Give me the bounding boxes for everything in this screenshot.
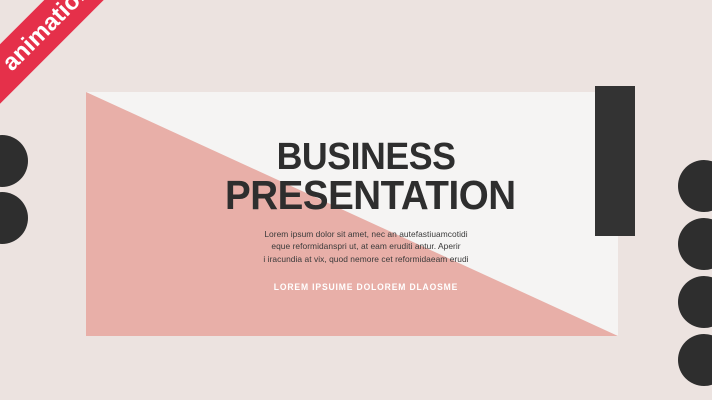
slide-canvas: BUSINESS PRESENTATION Lorem ipsum dolor … <box>0 0 712 400</box>
slide-text-block: BUSINESS PRESENTATION Lorem ipsum dolor … <box>216 140 516 292</box>
slide-title-line-1: BUSINESS <box>225 140 507 175</box>
decorative-circle-right-3 <box>678 276 712 328</box>
animation-badge-label: animation <box>0 0 97 77</box>
decorative-circle-right-4 <box>678 334 712 386</box>
slide-body-paragraph: Lorem ipsum dolor sit amet, nec an autef… <box>216 228 516 265</box>
presentation-slide[interactable]: BUSINESS PRESENTATION Lorem ipsum dolor … <box>86 92 618 336</box>
slide-title-line-2: PRESENTATION <box>225 177 507 215</box>
dark-accent-bar <box>595 86 635 236</box>
decorative-circle-right-1 <box>678 160 712 212</box>
paragraph-line-1: Lorem ipsum dolor sit amet, nec an autef… <box>216 228 516 240</box>
paragraph-line-2: eque reformidanspri ut, at eam eruditi a… <box>216 240 516 252</box>
decorative-circle-left-2 <box>0 192 28 244</box>
slide-tagline: LOREM IPSUIME DOLOREM DLAOSME <box>224 282 509 292</box>
decorative-circle-left-1 <box>0 135 28 187</box>
paragraph-line-3: i iracundia at vix, quod nemore cet refo… <box>216 253 516 265</box>
decorative-circle-right-2 <box>678 218 712 270</box>
